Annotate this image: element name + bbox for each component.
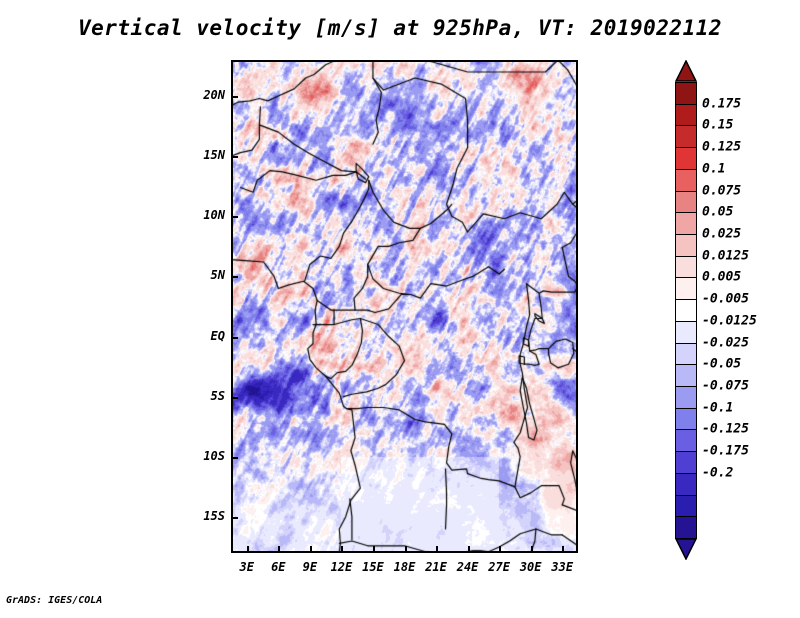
colorbar-tick-label: -0.2 — [702, 465, 733, 480]
y-tick-label: 20N — [189, 88, 225, 102]
y-tick-mark — [231, 517, 238, 519]
map-plot-area: 20N15N10N5NEQ5S10S15S 3E6E9E12E15E18E21E… — [231, 60, 578, 553]
x-tick-label: 3E — [240, 560, 254, 574]
colorbar-tick-label: -0.0125 — [702, 313, 757, 328]
colorbar-tick-label: 0.025 — [702, 227, 741, 242]
colorbar-tick-label: -0.05 — [702, 357, 741, 372]
x-tick-label: 33E — [551, 560, 573, 574]
y-tick-mark — [231, 457, 238, 459]
vertical-velocity-heatmap — [231, 60, 578, 553]
colorbar-tick-label: -0.075 — [702, 379, 749, 394]
colorbar-tick-label: 0.0125 — [702, 248, 749, 263]
x-tick-mark — [278, 546, 280, 553]
y-tick-label: 5S — [189, 389, 225, 403]
y-tick-label: 15N — [189, 148, 225, 162]
colorbar-top-arrow — [675, 60, 697, 82]
colorbar-swatch — [675, 256, 697, 279]
colorbar-tick-label: -0.125 — [702, 422, 749, 437]
colorbar-tick-label: -0.005 — [702, 292, 749, 307]
colorbar-swatch — [675, 299, 697, 322]
colorbar-swatch — [675, 147, 697, 170]
x-tick-label: 18E — [394, 560, 416, 574]
x-tick-label: 9E — [303, 560, 317, 574]
colorbar-swatch — [675, 473, 697, 496]
colorbar-tick-label: -0.025 — [702, 335, 749, 350]
y-tick-mark — [231, 96, 238, 98]
colorbar-swatch — [675, 386, 697, 409]
colorbar-swatch — [675, 169, 697, 192]
colorbar: 0.1750.150.1250.10.0750.050.0250.01250.0… — [675, 60, 697, 560]
x-tick-mark — [562, 546, 564, 553]
colorbar-swatch — [675, 104, 697, 127]
x-tick-mark — [341, 546, 343, 553]
colorbar-swatch — [675, 82, 697, 105]
y-tick-label: 10S — [189, 449, 225, 463]
x-tick-label: 6E — [271, 560, 285, 574]
x-tick-label: 30E — [520, 560, 542, 574]
y-tick-mark — [231, 156, 238, 158]
y-tick-mark — [231, 276, 238, 278]
x-tick-mark — [310, 546, 312, 553]
colorbar-swatch — [675, 277, 697, 300]
colorbar-swatch — [675, 495, 697, 518]
colorbar-swatch — [675, 343, 697, 366]
colorbar-swatch — [675, 364, 697, 387]
y-tick-mark — [231, 216, 238, 218]
x-tick-mark — [373, 546, 375, 553]
colorbar-tick-label: -0.1 — [702, 400, 733, 415]
colorbar-swatch — [675, 451, 697, 474]
colorbar-swatch — [675, 191, 697, 214]
y-tick-mark — [231, 397, 238, 399]
x-tick-mark — [405, 546, 407, 553]
x-tick-label: 24E — [457, 560, 479, 574]
x-tick-label: 12E — [331, 560, 353, 574]
colorbar-tick-label: 0.125 — [702, 140, 741, 155]
colorbar-tick-label: 0.15 — [702, 118, 733, 133]
colorbar-bottom-arrow — [675, 538, 697, 560]
colorbar-swatch — [675, 408, 697, 431]
y-tick-label: EQ — [189, 329, 225, 343]
x-tick-label: 15E — [362, 560, 384, 574]
y-tick-label: 10N — [189, 208, 225, 222]
x-tick-label: 27E — [488, 560, 510, 574]
colorbar-swatch — [675, 516, 697, 539]
colorbar-swatch — [675, 212, 697, 235]
footer-credit: GrADS: IGES/COLA — [6, 595, 102, 606]
colorbar-tick-label: 0.05 — [702, 205, 733, 220]
colorbar-tick-label: 0.075 — [702, 183, 741, 198]
x-tick-mark — [247, 546, 249, 553]
colorbar-tick-label: 0.175 — [702, 96, 741, 111]
x-tick-mark — [499, 546, 501, 553]
y-tick-mark — [231, 337, 238, 339]
colorbar-swatch — [675, 429, 697, 452]
colorbar-tick-label: 0.1 — [702, 161, 725, 176]
colorbar-swatch — [675, 321, 697, 344]
colorbar-tick-label: -0.175 — [702, 444, 749, 459]
y-tick-label: 15S — [189, 509, 225, 523]
colorbar-tick-label: 0.005 — [702, 270, 741, 285]
x-tick-label: 21E — [425, 560, 447, 574]
x-tick-mark — [531, 546, 533, 553]
y-tick-label: 5N — [189, 268, 225, 282]
colorbar-swatch — [675, 125, 697, 148]
page-title: Vertical velocity [m/s] at 925hPa, VT: 2… — [0, 16, 800, 40]
colorbar-swatch — [675, 234, 697, 257]
x-tick-mark — [468, 546, 470, 553]
figure-root: Vertical velocity [m/s] at 925hPa, VT: 2… — [0, 0, 800, 618]
x-tick-mark — [436, 546, 438, 553]
